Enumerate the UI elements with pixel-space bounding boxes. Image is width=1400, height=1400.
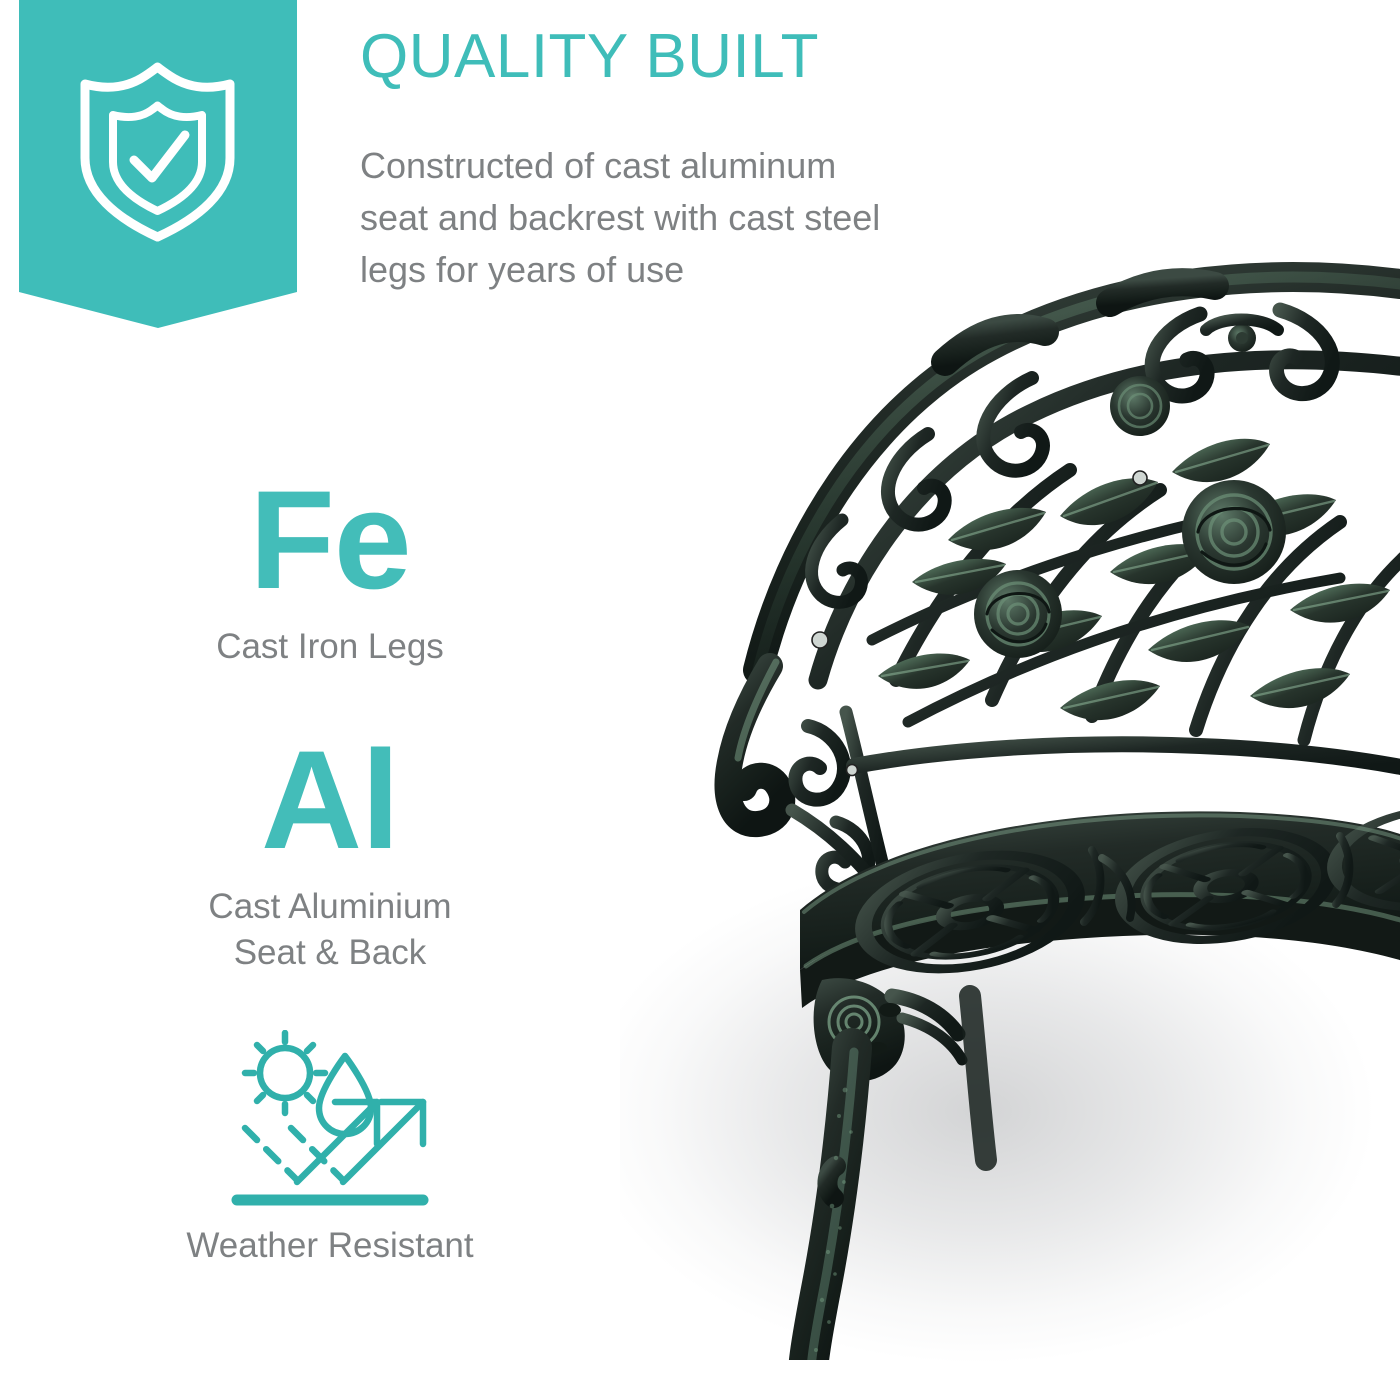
feature-label-line-2: Seat & Back (90, 930, 570, 976)
shield-check-icon (75, 62, 240, 242)
product-image-garden-bench (640, 210, 1400, 1360)
feature-cast-iron-legs: Fe Cast Iron Legs (90, 470, 570, 670)
feature-weather-resistant: Weather Resistant (100, 1030, 560, 1266)
feature-cast-aluminium: Al Cast Aluminium Seat & Back (90, 730, 570, 975)
infographic-canvas: QUALITY BUILT Constructed of cast alumin… (0, 0, 1400, 1400)
feature-label-cast-aluminium: Cast Aluminium Seat & Back (90, 884, 570, 975)
page-title: QUALITY BUILT (360, 24, 1020, 89)
element-symbol-al: Al (90, 730, 570, 870)
feature-label-cast-iron-legs: Cast Iron Legs (90, 624, 570, 670)
weather-resistant-label: Weather Resistant (100, 1226, 560, 1266)
weather-resistant-icon (215, 1030, 445, 1215)
description-line-1: Constructed of cast aluminum (360, 140, 1040, 192)
feature-label-line-1: Cast Aluminium (90, 884, 570, 930)
element-symbol-fe: Fe (90, 470, 570, 610)
quality-banner-ribbon (19, 0, 297, 328)
